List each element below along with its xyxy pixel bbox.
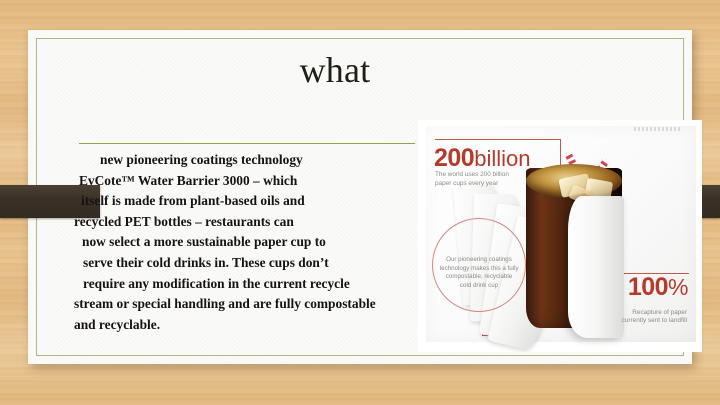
slide-body-text: new pioneering coatings technology EvCot… bbox=[74, 150, 426, 335]
leader-line-top-horizontal bbox=[435, 139, 561, 140]
body-line: new pioneering coatings technology bbox=[74, 150, 426, 171]
infographic-header-marks bbox=[634, 127, 680, 131]
body-line: and recyclable. bbox=[74, 315, 426, 336]
stat-100-caption-line1: Recapture of paper bbox=[622, 309, 687, 318]
stat-200-caption: The world uses 200 billion paper cups ev… bbox=[435, 171, 509, 188]
stat-100-number: 100 bbox=[628, 273, 668, 301]
slide-title: what bbox=[50, 52, 620, 90]
stat-100-percent: 100% bbox=[628, 273, 688, 302]
body-line: stream or special handling and are fully… bbox=[74, 294, 426, 315]
circle-callout-line4: cold drink cup bbox=[430, 282, 528, 290]
infographic-image: 200billion The world uses 200 billion pa… bbox=[418, 120, 702, 352]
stat-200-caption-line2: paper cups every year bbox=[435, 180, 509, 189]
stat-100-unit: % bbox=[668, 274, 688, 300]
circle-callout-text: Our pioneering coatings technology makes… bbox=[430, 256, 528, 290]
stat-200-number: 200 bbox=[434, 144, 474, 172]
circle-callout-line1: Our pioneering coatings bbox=[430, 256, 528, 264]
cup-paper-front bbox=[568, 196, 624, 338]
body-line: serve their cold drinks in. These cups d… bbox=[74, 253, 426, 274]
cup-liquid-surface bbox=[526, 164, 622, 198]
circle-callout-line2: technology makes this a fully bbox=[430, 265, 528, 273]
stat-100-caption-line2: currently sent to landfill bbox=[622, 317, 687, 326]
circle-callout-line3: compostable, recyclable bbox=[430, 273, 528, 281]
stat-200-unit: billion bbox=[474, 146, 530, 171]
stat-200-billion: 200billion bbox=[434, 144, 530, 173]
stat-200-caption-line1: The world uses 200 billion bbox=[435, 171, 509, 180]
body-divider-rule bbox=[79, 143, 415, 144]
stat-100-caption: Recapture of paper currently sent to lan… bbox=[622, 309, 687, 326]
body-line: recycled PET bottles – restaurants can bbox=[74, 212, 426, 233]
body-line: now select a more sustainable paper cup … bbox=[74, 232, 426, 253]
body-line: require any modification in the current … bbox=[74, 274, 426, 295]
body-line: itself is made from plant-based oils and bbox=[74, 191, 426, 212]
body-line: EvCote™ Water Barrier 3000 – which bbox=[74, 171, 426, 192]
presentation-slide: what new pioneering coatings technology … bbox=[0, 0, 720, 405]
